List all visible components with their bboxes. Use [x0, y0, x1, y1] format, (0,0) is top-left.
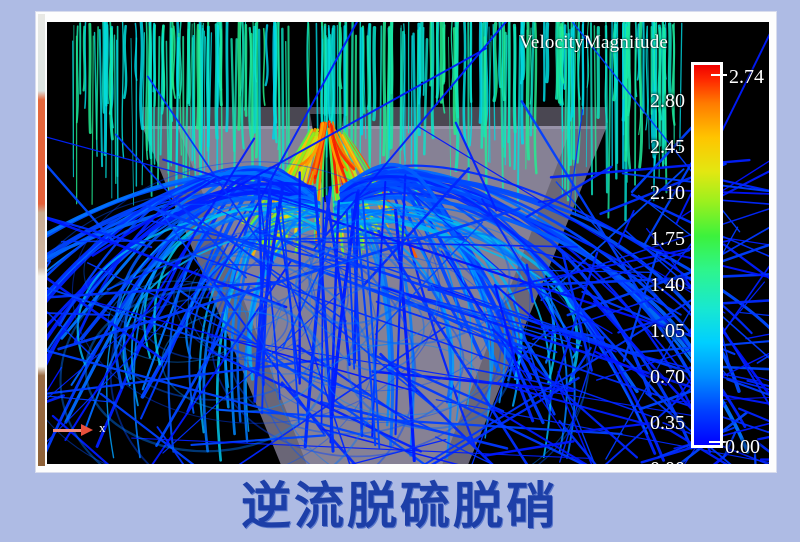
streamline — [263, 29, 264, 105]
slide-canvas: VelocityMagnitude 2.802.452.101.751.401.… — [0, 0, 800, 542]
streamline — [594, 26, 596, 173]
streamline — [508, 23, 509, 142]
streamline — [124, 26, 126, 98]
streamline — [90, 24, 91, 132]
slide-caption: 逆流脱硫脱硝 — [0, 476, 800, 536]
streamline — [686, 154, 769, 276]
streamline — [411, 36, 412, 164]
streamline — [161, 34, 163, 155]
streamline — [522, 22, 523, 143]
streamline — [591, 23, 592, 194]
streamline — [577, 423, 650, 432]
streamline — [97, 27, 98, 139]
streamline — [374, 28, 375, 120]
streamline — [628, 22, 630, 169]
streamline — [514, 25, 515, 131]
streamline — [451, 22, 453, 89]
streamline — [132, 438, 592, 458]
streamline — [761, 460, 769, 461]
streamline — [456, 22, 458, 170]
streamline — [464, 22, 466, 142]
streamline — [615, 22, 616, 178]
streamline — [122, 22, 123, 158]
streamline — [391, 22, 392, 147]
streamline — [755, 452, 760, 464]
streamline — [282, 29, 283, 170]
streamline — [551, 160, 749, 177]
streamline — [239, 22, 240, 129]
streamline — [158, 37, 159, 185]
streamline — [266, 25, 268, 85]
streamline — [480, 22, 481, 122]
streamline-field — [47, 22, 769, 464]
frame-edge-strip — [38, 14, 45, 466]
streamline — [221, 29, 222, 182]
streamline — [724, 432, 736, 457]
streamline — [100, 30, 102, 166]
streamline — [432, 22, 433, 138]
streamline — [632, 195, 717, 235]
streamline — [558, 22, 560, 102]
streamline — [606, 26, 607, 192]
x-axis-arrow-icon — [81, 424, 93, 436]
streamline — [286, 42, 288, 189]
streamline — [131, 38, 134, 205]
streamline — [638, 24, 639, 79]
streamline — [384, 22, 385, 155]
streamline — [380, 26, 381, 173]
streamline — [227, 22, 228, 131]
streamline — [115, 35, 116, 183]
streamline — [171, 29, 172, 166]
streamline — [518, 36, 520, 205]
streamline — [528, 22, 529, 159]
streamline — [547, 24, 548, 82]
axis-triad: x — [53, 412, 113, 452]
streamline — [232, 39, 235, 151]
streamline — [565, 34, 566, 189]
streamline — [535, 23, 537, 173]
streamline — [85, 22, 86, 108]
streamline — [242, 22, 244, 148]
streamline — [141, 22, 143, 129]
streamline — [718, 282, 764, 338]
streamline — [73, 25, 74, 159]
streamline — [505, 33, 506, 157]
streamline — [586, 36, 588, 167]
streamline — [424, 39, 427, 154]
streamline — [308, 24, 309, 109]
streamline — [680, 23, 682, 150]
cfd-render-viewport: VelocityMagnitude 2.802.452.101.751.401.… — [47, 22, 769, 464]
streamline — [254, 27, 255, 132]
streamline — [92, 36, 93, 204]
x-axis-label: x — [99, 420, 106, 436]
streamline — [154, 24, 155, 91]
streamline — [568, 34, 569, 165]
streamline — [669, 24, 670, 95]
